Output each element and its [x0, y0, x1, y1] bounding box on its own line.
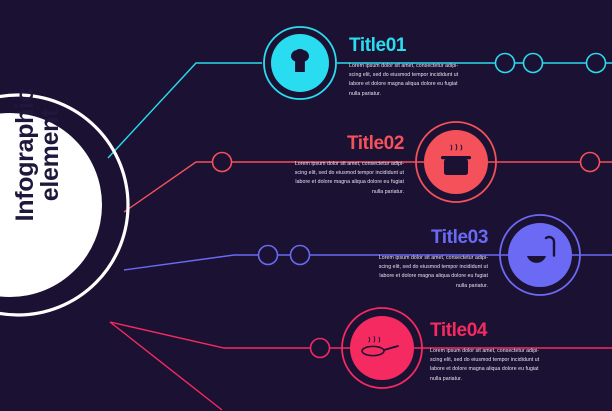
item-title-02: Title02	[284, 134, 404, 154]
item-body-03: Lorem ipsum dolor sit amet, consectetur …	[368, 248, 488, 291]
item-circle-04[interactable]	[342, 308, 422, 388]
infographic-canvas: Infographic element Title01 Lorem ipsum …	[0, 0, 612, 411]
item-text-02: Title02 Lorem ipsum dolor sit amet, cons…	[284, 134, 404, 197]
item-title-01: Title01	[349, 36, 469, 56]
item-title-03: Title03	[368, 228, 488, 248]
item-title-04: Title04	[430, 321, 550, 341]
node-dots-04	[311, 339, 330, 358]
item-circle-02[interactable]	[416, 122, 496, 202]
item-body-04: Lorem ipsum dolor sit amet, consectetur …	[430, 341, 550, 384]
item-text-01: Title01 Lorem ipsum dolor sit amet, cons…	[349, 36, 469, 99]
item-text-04: Title04 Lorem ipsum dolor sit amet, cons…	[430, 321, 550, 384]
item-circle-01[interactable]	[264, 27, 336, 99]
item-body-02: Lorem ipsum dolor sit amet, consectetur …	[284, 154, 404, 197]
item-circle-03[interactable]	[500, 215, 580, 295]
hub-circle[interactable]	[0, 95, 128, 315]
item-text-03: Title03 Lorem ipsum dolor sit amet, cons…	[368, 228, 488, 291]
item-body-01: Lorem ipsum dolor sit amet, consectetur …	[349, 56, 469, 99]
